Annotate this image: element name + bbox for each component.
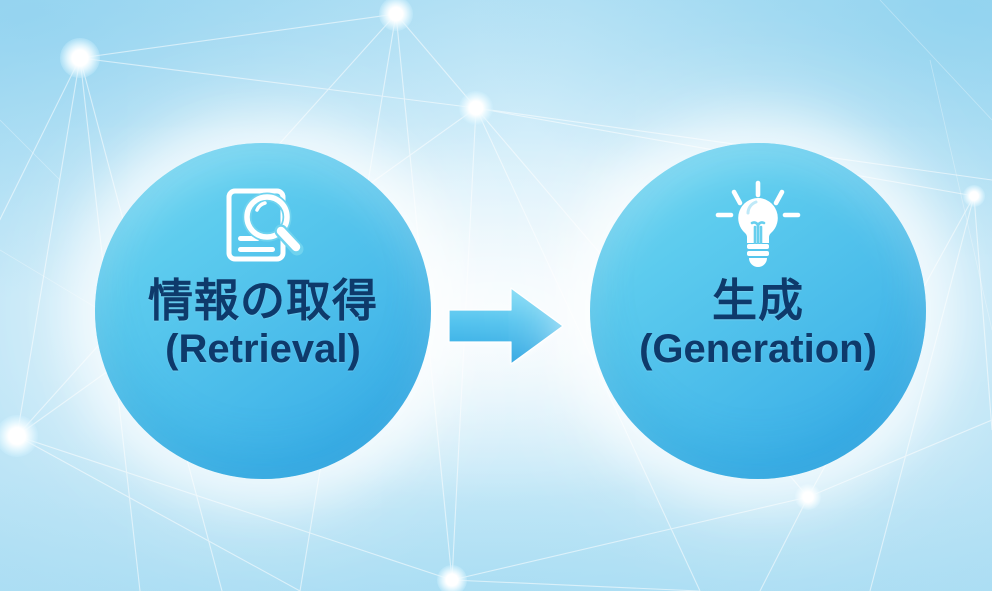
step-circle-generation[interactable]: 生成 (Generation) [590, 143, 926, 479]
rag-flow-diagram: 情報の取得 (Retrieval) [0, 0, 992, 591]
lightbulb-icon [710, 177, 806, 273]
step-label-generation: 生成 (Generation) [639, 277, 877, 371]
step-label-en: (Retrieval) [148, 328, 378, 371]
step-label-en: (Generation) [639, 328, 877, 371]
document-search-icon [215, 177, 311, 273]
step-label-jp: 情報の取得 [148, 277, 378, 326]
step-label-retrieval: 情報の取得 (Retrieval) [148, 277, 378, 371]
step-label-jp: 生成 [639, 277, 877, 326]
step-circle-retrieval[interactable]: 情報の取得 (Retrieval) [95, 143, 431, 479]
right-arrow [447, 286, 565, 366]
